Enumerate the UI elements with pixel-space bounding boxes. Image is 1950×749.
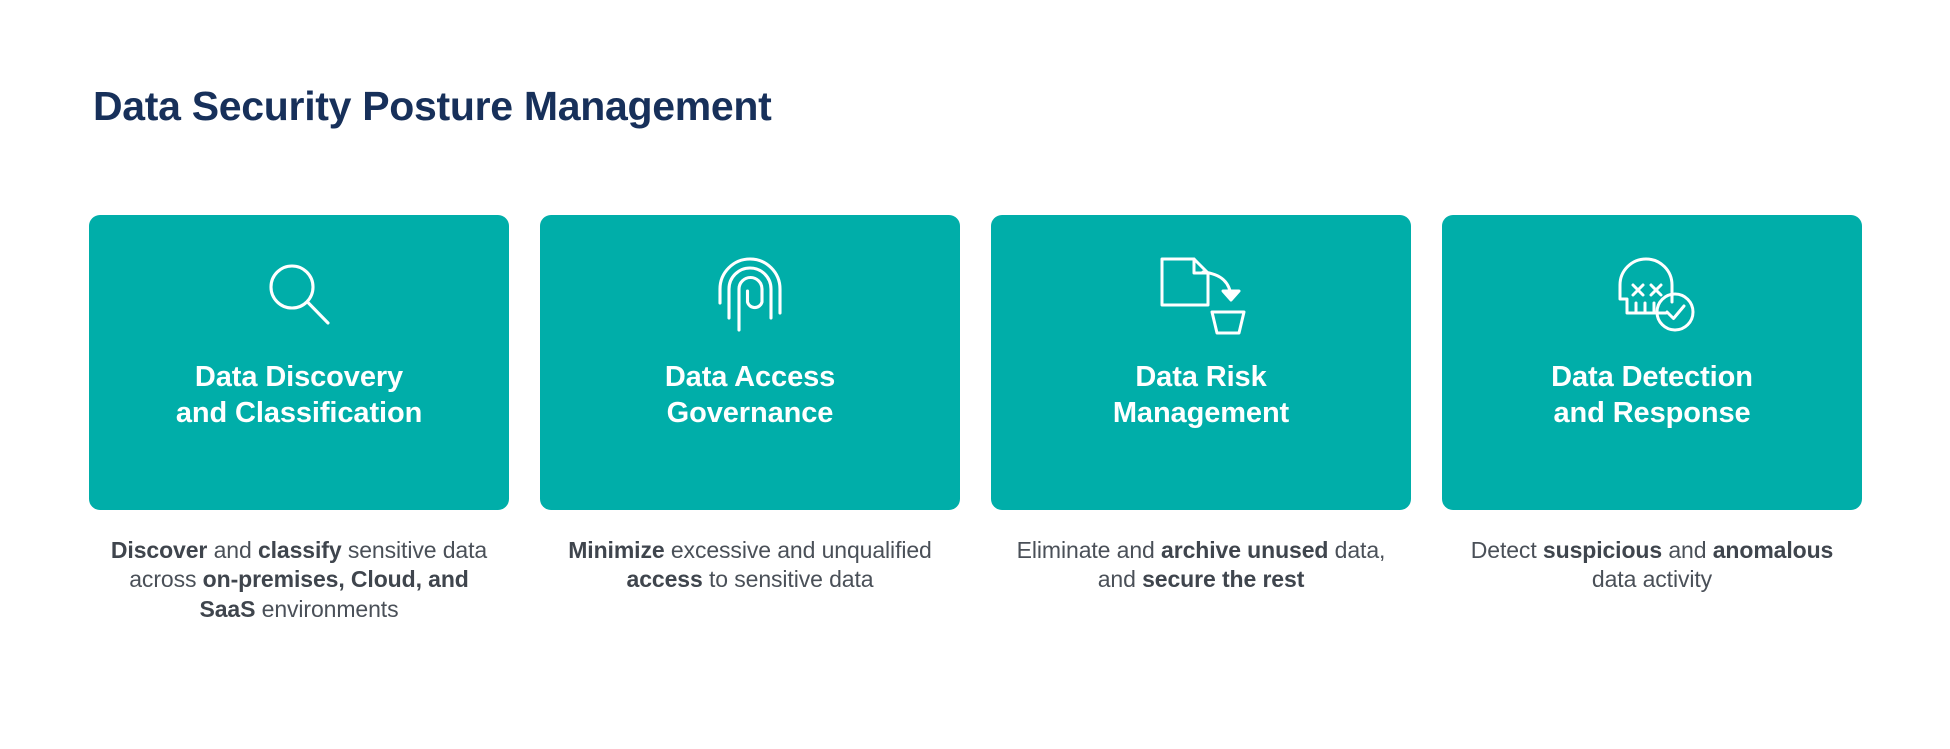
document-to-trash-icon	[1153, 253, 1249, 337]
pillar-title-line-1: Data Access	[665, 359, 835, 395]
pillar-column-data-detection: Data Detection and Response Detect suspi…	[1442, 215, 1862, 624]
pillar-cards-row: Data Discovery and Classification Discov…	[89, 215, 1862, 624]
pillar-card-data-access[interactable]: Data Access Governance	[540, 215, 960, 510]
pillar-column-data-discovery: Data Discovery and Classification Discov…	[89, 215, 509, 624]
pillar-title-data-risk: Data Risk Management	[1099, 359, 1303, 432]
pillar-title-line-1: Data Discovery	[176, 359, 422, 395]
dspm-infographic: Data Security Posture Management Data Di…	[0, 0, 1950, 749]
pillar-title-line-2: and Classification	[176, 395, 422, 431]
pillar-column-data-risk: Data Risk Management Eliminate and archi…	[991, 215, 1411, 624]
pillar-title-line-1: Data Risk	[1113, 359, 1289, 395]
pillar-caption-data-risk: Eliminate and archive unused data, and s…	[1011, 536, 1391, 595]
pillar-title-line-2: and Response	[1551, 395, 1753, 431]
skull-check-icon	[1604, 253, 1700, 337]
pillar-title-line-2: Management	[1113, 395, 1289, 431]
pillar-card-data-risk[interactable]: Data Risk Management	[991, 215, 1411, 510]
pillar-title-line-1: Data Detection	[1551, 359, 1753, 395]
pillar-caption-data-detection: Detect suspicious and anomalous data act…	[1462, 536, 1842, 595]
pillar-card-data-discovery[interactable]: Data Discovery and Classification	[89, 215, 509, 510]
pillar-title-line-2: Governance	[665, 395, 835, 431]
pillar-title-data-access: Data Access Governance	[651, 359, 849, 432]
pillar-column-data-access: Data Access Governance Minimize excessiv…	[540, 215, 960, 624]
page-title: Data Security Posture Management	[93, 84, 772, 129]
fingerprint-icon	[702, 253, 798, 337]
pillar-caption-data-access: Minimize excessive and unqualified acces…	[560, 536, 940, 595]
pillar-caption-data-discovery: Discover and classify sensitive data acr…	[109, 536, 489, 624]
pillar-title-data-discovery: Data Discovery and Classification	[162, 359, 436, 432]
pillar-card-data-detection[interactable]: Data Detection and Response	[1442, 215, 1862, 510]
pillar-title-data-detection: Data Detection and Response	[1537, 359, 1767, 432]
magnifier-icon	[251, 253, 347, 337]
